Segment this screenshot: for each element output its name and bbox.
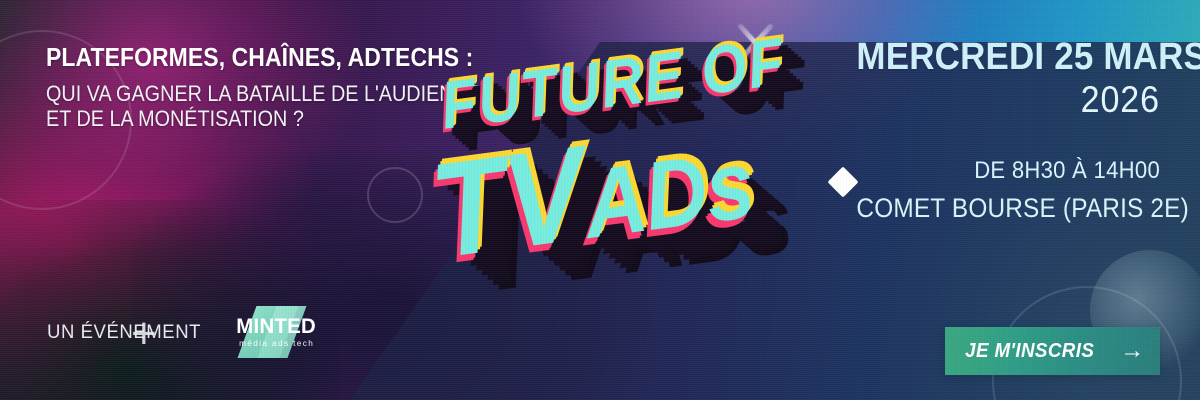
- event-year: 2026: [856, 80, 1160, 120]
- register-button-label: JE M'INSCRIS: [965, 340, 1094, 363]
- headline-block: PLATEFORMES, CHAÎNES, ADTECHS : QUI VA G…: [46, 44, 476, 131]
- minted-wordmark: MINTED: [237, 316, 317, 337]
- headline-subtitle-line-1: QUI VA GAGNER LA BATAILLE DE L'AUDIENCE: [46, 82, 424, 106]
- minted-tagline: média ads tech: [239, 340, 314, 348]
- event-banner: + PLATEFORMES, CHAÎNES, ADTECHS : QUI VA…: [0, 0, 1200, 400]
- register-button[interactable]: JE M'INSCRIS →: [945, 327, 1160, 375]
- organizer-label: UN ÉVÉNEMENT: [47, 321, 201, 344]
- minted-logo[interactable]: MINTED média ads tech: [229, 303, 324, 361]
- event-date: MERCREDI 25 MARS: [856, 38, 1160, 76]
- headline-kicker: PLATEFORMES, CHAÎNES, ADTECHS :: [46, 44, 433, 72]
- logotype-ads: ADs: [577, 128, 759, 258]
- headline-subtitle-line-2: ET DE LA MONÉTISATION ?: [46, 107, 424, 131]
- logotype-tv: TV: [423, 118, 592, 286]
- event-logotype: FUTURE OF TVADs: [415, 29, 818, 355]
- arrow-right-icon: →: [1120, 339, 1144, 363]
- organizer-row: UN ÉVÉNEMENT MINTED média ads tech: [47, 303, 324, 361]
- event-venue: COMET BOURSE (PARIS 2E): [856, 194, 1160, 223]
- event-time: DE 8H30 À 14H00: [856, 158, 1160, 185]
- event-info-block: MERCREDI 25 MARS 2026 DE 8H30 À 14H00 CO…: [830, 38, 1160, 223]
- headline-subtitle: QUI VA GAGNER LA BATAILLE DE L'AUDIENCE …: [46, 82, 424, 131]
- circle-outline-icon: [367, 167, 423, 223]
